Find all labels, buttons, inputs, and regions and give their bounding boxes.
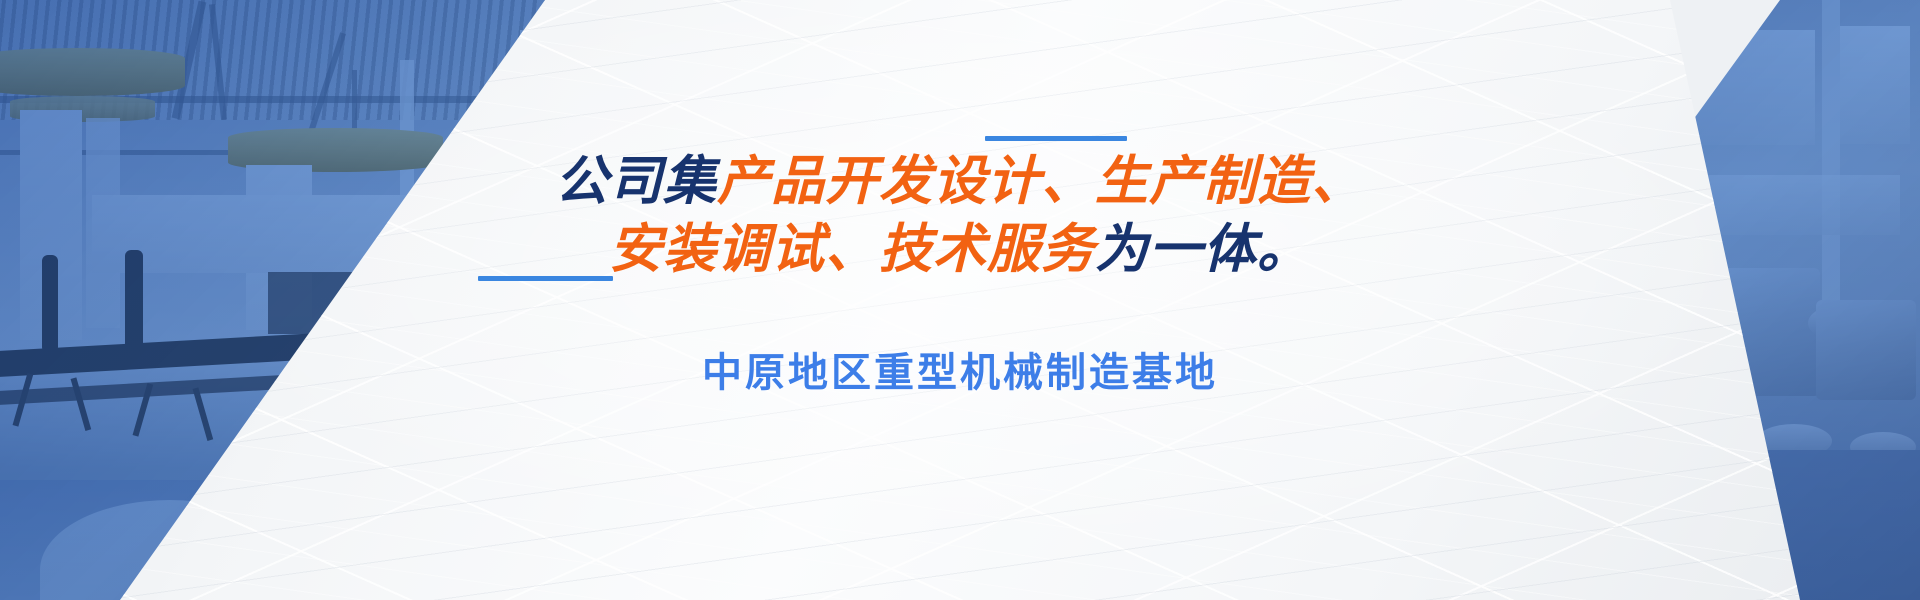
headline: 公司集产品开发设计、生产制造、 安装调试、技术服务为一体。 [0,148,1920,284]
hero-banner: 公司集产品开发设计、生产制造、 安装调试、技术服务为一体。 中原地区重型机械制造… [0,0,1920,600]
banner-content: 公司集产品开发设计、生产制造、 安装调试、技术服务为一体。 中原地区重型机械制造… [0,0,1920,600]
headline-line1-segment-orange: 产品开发设计、生产制造、 [717,152,1365,211]
headline-line2-segment-navy: 为一体。 [1095,220,1311,279]
headline-line-2: 安装调试、技术服务为一体。 [0,216,1920,284]
headline-line-1: 公司集产品开发设计、生产制造、 [0,148,1920,216]
subtitle: 中原地区重型机械制造基地 [0,345,1920,401]
headline-line2-segment-orange: 安装调试、技术服务 [609,220,1095,279]
headline-line1-segment-navy: 公司集 [555,152,717,211]
accent-line-top [985,136,1127,141]
